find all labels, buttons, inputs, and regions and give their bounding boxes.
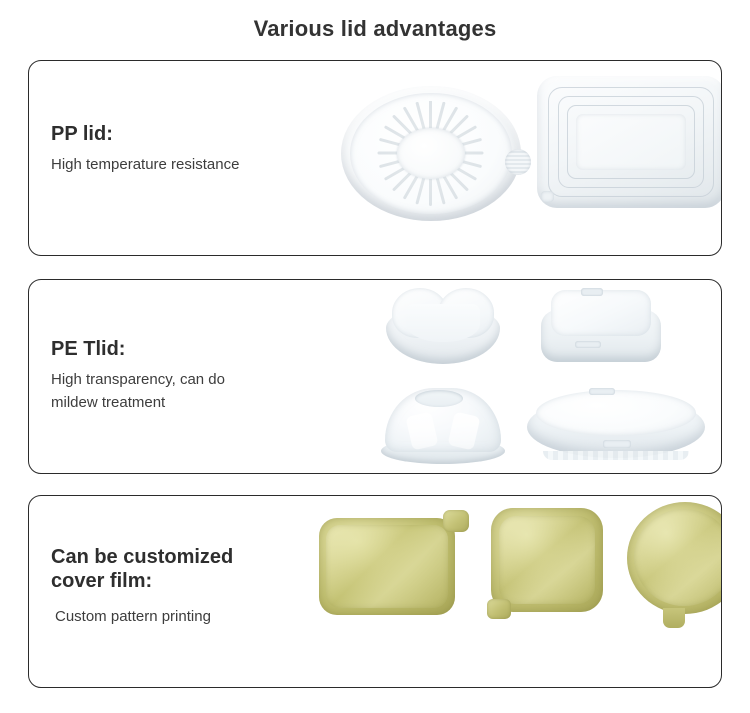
panel-cover-film-text: Can be customized cover film: Custom pat… <box>51 546 319 628</box>
oval-lid-tab-bottom <box>603 440 631 448</box>
oval-lid-tab-top <box>589 388 615 395</box>
dome-lid-hole <box>415 390 463 407</box>
panel-cover-film: Can be customized cover film: Custom pat… <box>28 495 722 688</box>
square-lid-top <box>551 290 651 336</box>
square-lid-notch-top <box>581 288 603 296</box>
gold-square-pull-tab <box>487 599 511 619</box>
panel-pe-lid-description: High transparency, can do mildew treatme… <box>51 368 319 415</box>
gold-round-pull-tab <box>663 608 685 628</box>
oval-lid-top <box>536 390 696 436</box>
heart-pe-lid-image <box>384 288 502 366</box>
gold-rect-inner-face <box>326 525 448 608</box>
square-lid-notch-bottom <box>575 341 601 348</box>
gold-rect-pull-tab <box>443 510 469 532</box>
panel-pp-lid-images <box>319 61 721 255</box>
panel-pp-lid-heading: PP lid: <box>51 123 319 147</box>
gold-round-foil-lid-image <box>627 502 722 624</box>
dome-pe-lid-image <box>381 388 505 464</box>
round-pp-lid-image <box>341 86 521 221</box>
panel-cover-film-description: Custom pattern printing <box>51 599 319 628</box>
oval-lid-skirt-ridges <box>543 451 689 460</box>
gold-square-foil-lid-image <box>487 508 609 623</box>
rectangular-pp-lid-image <box>537 76 722 208</box>
rect-lid-center-panel <box>576 114 685 169</box>
square-pe-lid-image <box>541 290 661 364</box>
panel-cover-film-images <box>319 496 721 687</box>
round-lid-center-hub <box>397 128 465 179</box>
rect-lid-corner-notch <box>541 191 554 202</box>
panel-pe-lid-heading: PE Tlid: <box>51 338 319 362</box>
panel-pp-lid-description: High temperature resistance <box>51 153 319 176</box>
panel-pe-lid-images <box>319 280 721 473</box>
oval-pe-lid-image <box>527 390 705 462</box>
panel-pp-lid: PP lid: High temperature resistance <box>28 60 722 256</box>
gold-rectangular-foil-lid-image <box>319 510 469 615</box>
page-title: Various lid advantages <box>0 0 750 46</box>
panel-pp-lid-text: PP lid: High temperature resistance <box>51 123 319 176</box>
panel-pe-lid: PE Tlid: High transparency, can do milde… <box>28 279 722 474</box>
round-lid-side-tab <box>505 149 531 175</box>
panel-cover-film-heading: Can be customized cover film: <box>51 546 319 593</box>
gold-square-inner-face <box>499 516 595 604</box>
heart-lid-center <box>406 304 480 342</box>
heart-lid-top <box>392 288 494 340</box>
panel-pe-lid-text: PE Tlid: High transparency, can do milde… <box>51 338 319 414</box>
